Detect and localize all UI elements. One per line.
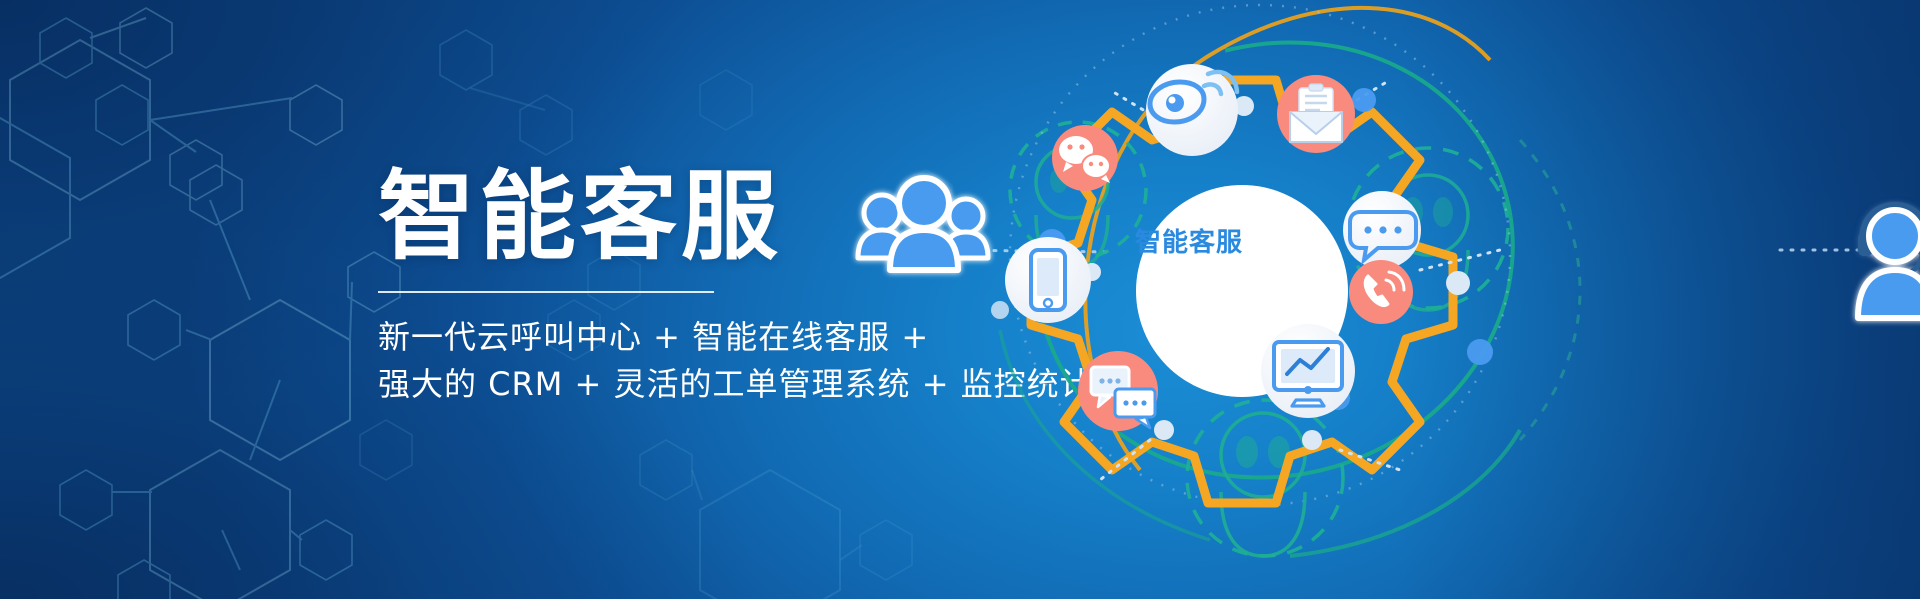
- mobile-phone-icon: [1005, 237, 1091, 323]
- phone-call-icon: [1349, 260, 1413, 324]
- chat-bubbles-pair-icon: [1078, 351, 1158, 431]
- email-icon: [1277, 75, 1355, 153]
- wechat-icon: [1052, 125, 1118, 191]
- robot-outline-icon: [1221, 413, 1305, 556]
- hero-banner: 智能客服 新一代云呼叫中心 + 智能在线客服 + 强大的 CRM + 灵活的工单…: [0, 0, 1920, 599]
- agent-headset-icon: [1858, 208, 1920, 318]
- chat-bubble-dots-icon: [1343, 191, 1421, 269]
- hero-illustration: [960, 0, 1920, 599]
- weibo-icon: [1146, 64, 1238, 156]
- title-divider: [378, 291, 714, 293]
- monitor-analytics-icon: [1261, 324, 1355, 418]
